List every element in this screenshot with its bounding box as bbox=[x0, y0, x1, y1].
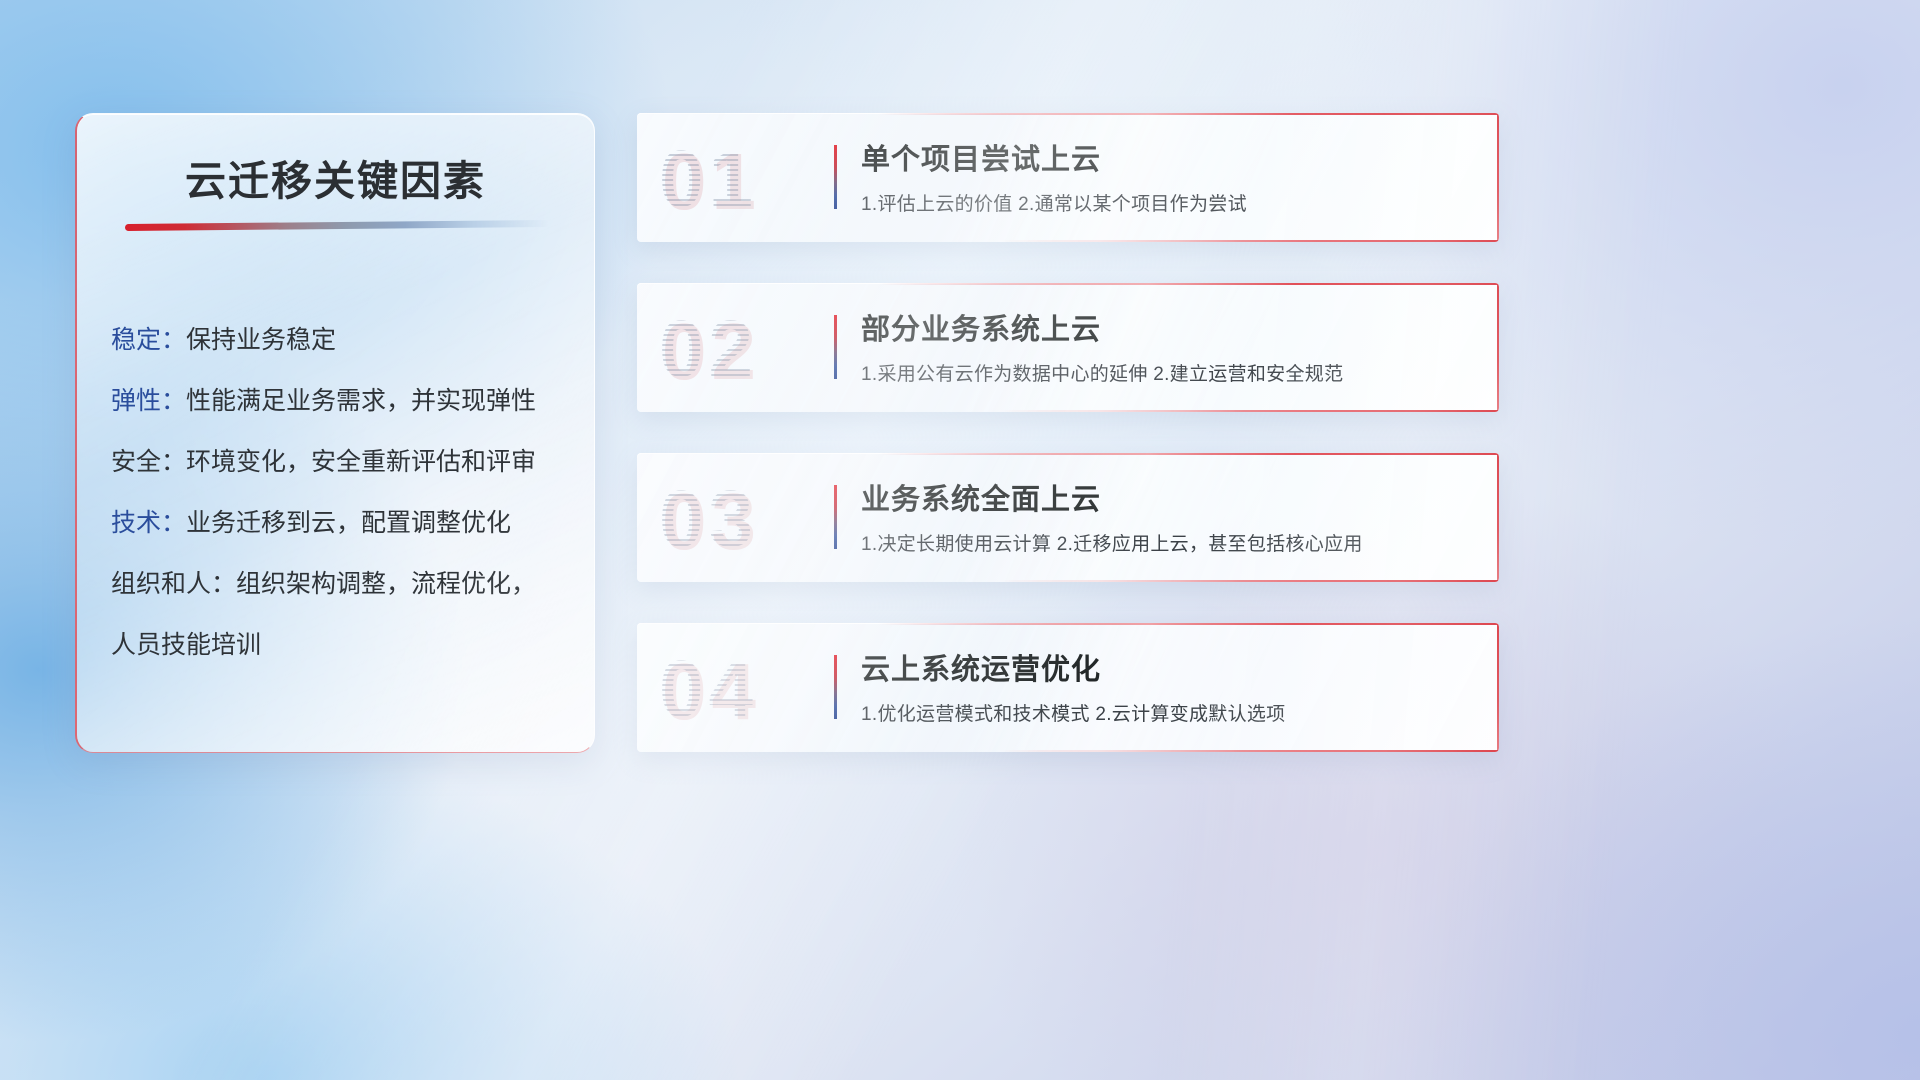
factor-row: 安全：环境变化，安全重新评估和评审 bbox=[111, 432, 574, 493]
card-accent-bottom bbox=[999, 580, 1499, 582]
factor-label: 弹性： bbox=[111, 387, 186, 415]
factor-value: 人员技能培训 bbox=[111, 631, 261, 659]
factor-row: 人员技能培训 bbox=[111, 615, 574, 676]
factor-label: 组织和人： bbox=[111, 570, 236, 598]
factor-row: 组织和人：组织架构调整，流程优化， bbox=[111, 554, 574, 615]
card-accent-bottom bbox=[999, 750, 1499, 752]
card-divider-bar bbox=[834, 485, 837, 549]
slide-canvas: 云迁移关键因素 稳定：保持业务稳定 弹性：性能满足业务需求，并实现弹性 安全：环… bbox=[0, 0, 1920, 1080]
card-accent-right bbox=[1497, 113, 1499, 242]
title-underline-gradient bbox=[125, 220, 549, 231]
step-description: 1.决定长期使用云计算 2.迁移应用上云，甚至包括核心应用 bbox=[861, 529, 1363, 556]
key-factors-panel: 云迁移关键因素 稳定：保持业务稳定 弹性：性能满足业务需求，并实现弹性 安全：环… bbox=[75, 113, 595, 753]
step-number: 02 bbox=[659, 297, 819, 401]
factor-value: 性能满足业务需求，并实现弹性 bbox=[186, 387, 536, 415]
card-accent-top bbox=[878, 453, 1499, 455]
factor-value: 组织架构调整，流程优化， bbox=[236, 570, 536, 598]
migration-steps-list: 01 01 单个项目尝试上云 1.评估上云的价值 2.通常以某个项目作为尝试 0… bbox=[637, 113, 1499, 793]
step-card[interactable]: 04 04 云上系统运营优化 1.优化运营模式和技术模式 2.云计算变成默认选项 bbox=[637, 623, 1499, 752]
card-accent-right bbox=[1497, 283, 1499, 412]
card-divider-bar bbox=[834, 655, 837, 719]
factor-label: 安全： bbox=[111, 448, 186, 476]
step-title: 部分业务系统上云 bbox=[861, 306, 1101, 348]
card-accent-top bbox=[878, 283, 1499, 285]
step-title: 云上系统运营优化 bbox=[861, 646, 1101, 688]
card-accent-bottom bbox=[999, 410, 1499, 412]
step-number: 01 bbox=[659, 127, 819, 231]
card-accent-top bbox=[878, 113, 1499, 115]
step-number: 04 bbox=[659, 637, 819, 741]
card-divider-bar bbox=[834, 315, 837, 379]
step-description: 1.评估上云的价值 2.通常以某个项目作为尝试 bbox=[861, 189, 1247, 216]
factor-label: 技术： bbox=[111, 509, 186, 537]
step-card[interactable]: 02 02 部分业务系统上云 1.采用公有云作为数据中心的延伸 2.建立运营和安… bbox=[637, 283, 1499, 412]
factor-value: 环境变化，安全重新评估和评审 bbox=[186, 448, 536, 476]
step-title: 单个项目尝试上云 bbox=[861, 136, 1101, 178]
key-factors-list: 稳定：保持业务稳定 弹性：性能满足业务需求，并实现弹性 安全：环境变化，安全重新… bbox=[111, 310, 574, 676]
step-number: 03 bbox=[659, 467, 819, 571]
card-accent-right bbox=[1497, 623, 1499, 752]
factor-row: 稳定：保持业务稳定 bbox=[111, 310, 574, 371]
card-accent-bottom bbox=[999, 240, 1499, 242]
factor-value: 业务迁移到云，配置调整优化 bbox=[186, 509, 511, 537]
card-divider-bar bbox=[834, 145, 837, 209]
card-accent-right bbox=[1497, 453, 1499, 582]
page-title: 云迁移关键因素 bbox=[77, 147, 594, 207]
step-description: 1.采用公有云作为数据中心的延伸 2.建立运营和安全规范 bbox=[861, 359, 1343, 386]
factor-row: 弹性：性能满足业务需求，并实现弹性 bbox=[111, 371, 574, 432]
factor-value: 保持业务稳定 bbox=[186, 326, 336, 354]
factor-row: 技术：业务迁移到云，配置调整优化 bbox=[111, 493, 574, 554]
step-title: 业务系统全面上云 bbox=[861, 476, 1101, 518]
card-accent-top bbox=[878, 623, 1499, 625]
step-card[interactable]: 01 01 单个项目尝试上云 1.评估上云的价值 2.通常以某个项目作为尝试 bbox=[637, 113, 1499, 242]
factor-label: 稳定： bbox=[111, 326, 186, 354]
step-card[interactable]: 03 03 业务系统全面上云 1.决定长期使用云计算 2.迁移应用上云，甚至包括… bbox=[637, 453, 1499, 582]
step-description: 1.优化运营模式和技术模式 2.云计算变成默认选项 bbox=[861, 699, 1285, 726]
